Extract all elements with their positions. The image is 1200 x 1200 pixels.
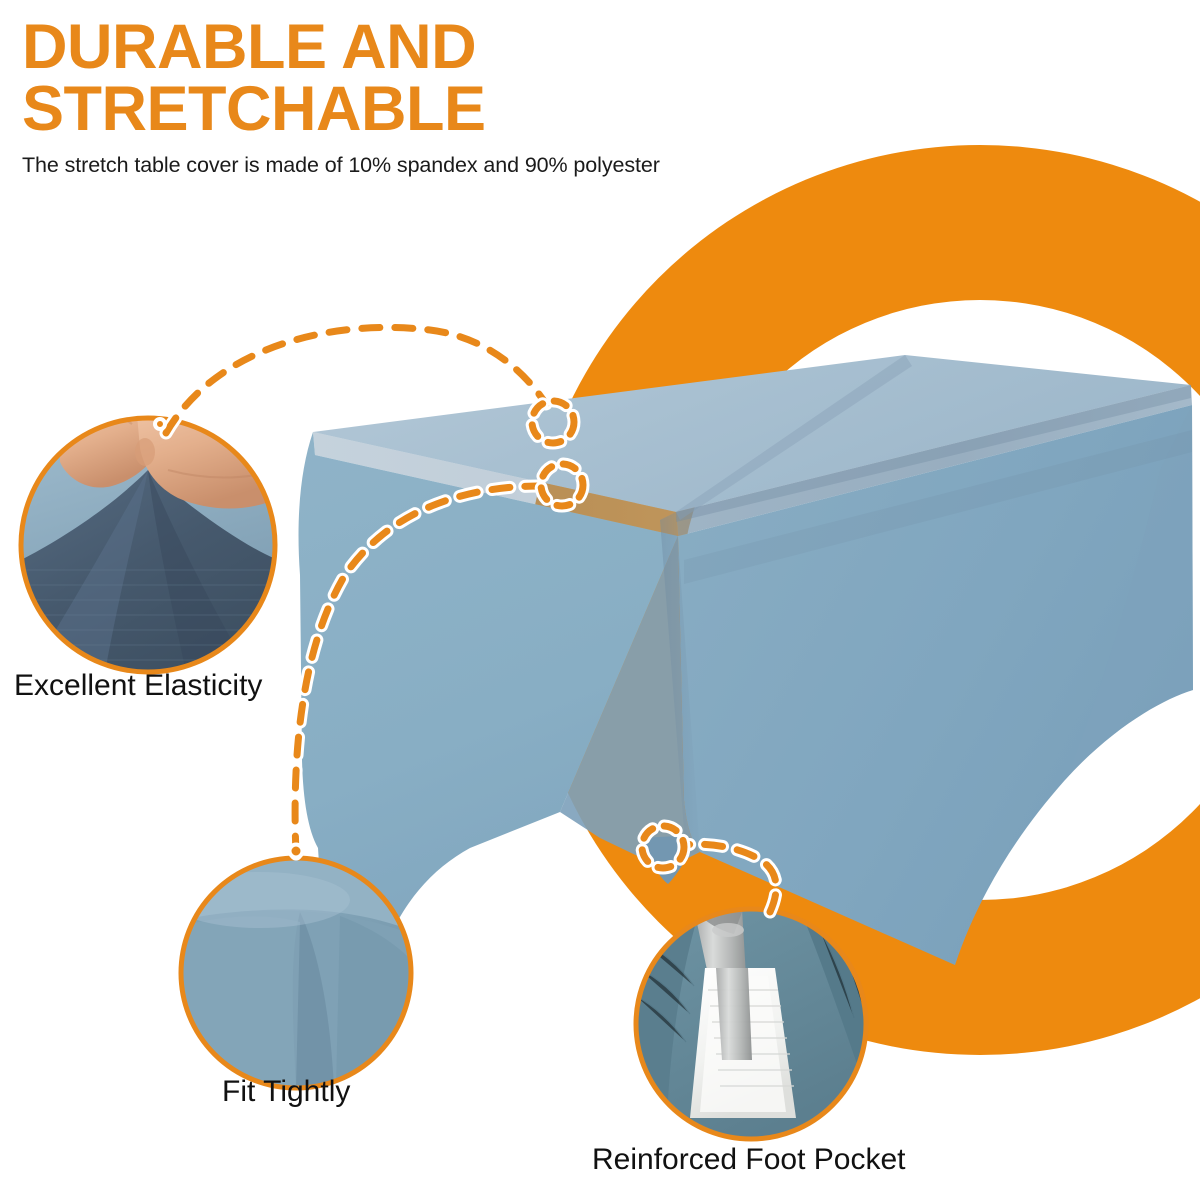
leader-endpoint-elasticity <box>155 419 165 429</box>
leader-line-elasticity-halo <box>166 327 546 433</box>
leader-line-fit-halo <box>295 486 540 854</box>
page-subtitle: The stretch table cover is made of 10% s… <box>22 153 722 178</box>
callout-circle-pocket[interactable] <box>636 909 866 1139</box>
headline-block: DURABLE AND STRETCHABLE The stretch tabl… <box>22 16 722 178</box>
callout-label-elasticity: Excellent Elasticity <box>14 669 262 703</box>
callout-label-fit: Fit Tightly <box>222 1075 350 1109</box>
leader-line-fit <box>295 486 540 854</box>
leader-line-pocket-halo <box>684 844 776 912</box>
infographic-canvas: DURABLE AND STRETCHABLE The stretch tabl… <box>0 0 1200 1200</box>
leader-lines <box>166 327 776 912</box>
leader-endpoint-fit <box>290 845 303 858</box>
page-title: DURABLE AND STRETCHABLE <box>22 16 722 141</box>
leader-line-pocket <box>684 844 776 912</box>
callouts-artwork <box>0 0 1200 1200</box>
callout-label-pocket: Reinforced Foot Pocket <box>592 1143 906 1177</box>
callout-circle-elasticity[interactable] <box>18 398 280 677</box>
table-markers <box>532 401 684 868</box>
callout-circle-fit[interactable] <box>170 858 411 1088</box>
